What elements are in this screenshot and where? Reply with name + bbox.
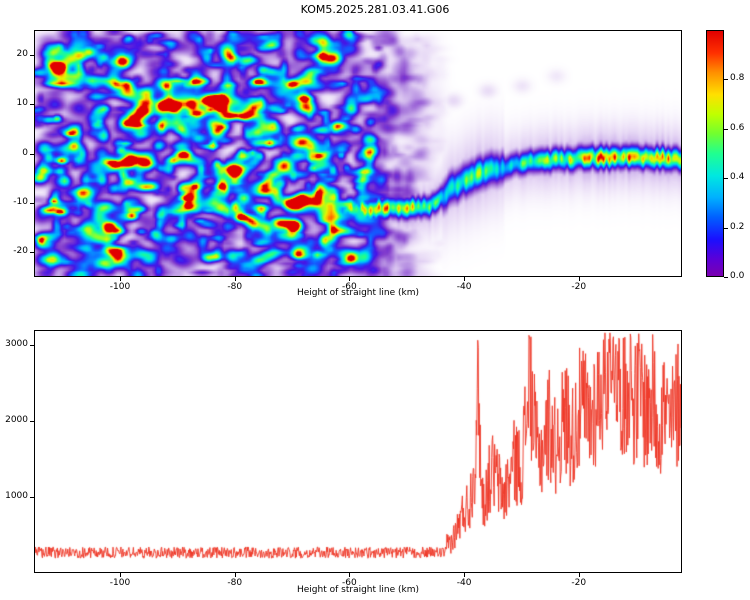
axis-tick [464, 573, 465, 577]
spectrogram-panel [34, 30, 682, 277]
snr-panel [34, 330, 682, 573]
axis-tick [724, 277, 728, 278]
axis-tick [120, 573, 121, 577]
axis-tick [724, 228, 728, 229]
figure-title: KOM5.2025.281.03.41.G06 [0, 3, 750, 16]
axis-tick [579, 277, 580, 281]
axis-tick [235, 277, 236, 281]
axis-tick [30, 421, 34, 422]
spectrogram-canvas [35, 31, 681, 276]
axis-tick [30, 203, 34, 204]
axis-tick-label: -20 [2, 246, 28, 256]
axis-tick [30, 104, 34, 105]
axis-tick [724, 178, 728, 179]
colorbar [706, 30, 724, 277]
axis-tick-label: 0.6 [730, 123, 750, 133]
axis-tick-label: 1000 [0, 491, 28, 501]
axis-tick [724, 79, 728, 80]
axis-tick [349, 573, 350, 577]
axis-tick-label: 0.8 [730, 73, 750, 83]
axis-tick [724, 129, 728, 130]
axis-tick-label: 0.2 [730, 222, 750, 232]
snr-xlabel: Height of straight line (km) [34, 585, 682, 595]
axis-tick-label: 2000 [0, 415, 28, 425]
axis-tick [30, 55, 34, 56]
axis-tick [464, 277, 465, 281]
axis-tick [30, 252, 34, 253]
axis-tick [579, 573, 580, 577]
colorbar-gradient [706, 30, 724, 277]
axis-tick-label: -10 [2, 197, 28, 207]
axis-tick [30, 345, 34, 346]
snr-canvas [35, 331, 681, 572]
axis-tick-label: 10 [2, 98, 28, 108]
axis-tick [120, 277, 121, 281]
axis-tick-label: 0 [2, 148, 28, 158]
axis-tick [235, 573, 236, 577]
axis-tick [30, 497, 34, 498]
axis-tick-label: 0.0 [730, 271, 750, 281]
axis-tick [30, 154, 34, 155]
axis-tick-label: 3000 [0, 339, 28, 349]
axis-tick-label: 0.4 [730, 172, 750, 182]
axis-tick [349, 277, 350, 281]
spectrogram-xlabel: Height of straight line (km) [34, 288, 682, 298]
axis-tick-label: 20 [2, 49, 28, 59]
